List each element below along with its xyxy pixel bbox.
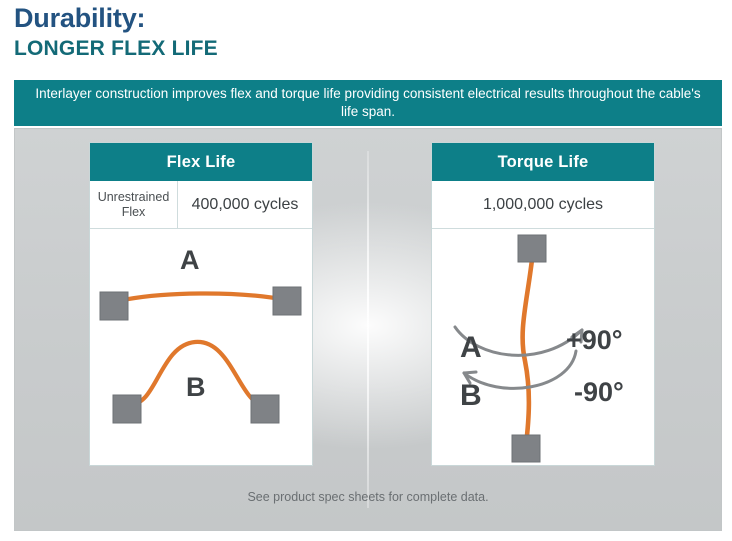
torque-angle-negative-label: -90° [574, 377, 624, 408]
flex-life-stat-label: Unrestrained Flex [90, 181, 178, 228]
torque-life-panel: Torque Life 1,000,000 cycles A B +90° -9… [431, 142, 655, 466]
footnote: See product spec sheets for complete dat… [15, 490, 721, 504]
flex-life-panel: Flex Life Unrestrained Flex 400,000 cycl… [89, 142, 313, 466]
flex-curve-b-label: B [186, 372, 206, 403]
flex-life-heading: Flex Life [90, 143, 312, 181]
page-title: Durability: [14, 2, 718, 34]
flex-curve-a-label: A [180, 245, 200, 276]
flex-curve-a-cable [114, 293, 286, 302]
flex-life-stat-value: 400,000 cycles [178, 181, 312, 228]
stage-divider [367, 151, 369, 508]
info-banner-text: Interlayer construction improves flex an… [34, 85, 702, 121]
flex-curve-b-block-left [113, 395, 141, 423]
flex-life-stat-row: Unrestrained Flex 400,000 cycles [90, 181, 312, 229]
torque-curve-a-label: A [460, 331, 482, 365]
torque-angle-positive-label: +90° [566, 325, 623, 356]
diagram-stage: Flex Life Unrestrained Flex 400,000 cycl… [14, 128, 722, 531]
torque-cable [523, 251, 533, 445]
flex-curve-b-block-right [251, 395, 279, 423]
torque-block-bottom [512, 435, 540, 462]
torque-life-heading: Torque Life [432, 143, 654, 181]
torque-curve-b-label: B [460, 379, 482, 413]
page-header: Durability: LONGER FLEX LIFE [14, 2, 718, 62]
torque-block-top [518, 235, 546, 262]
flex-life-figure: A B [90, 229, 312, 465]
torque-life-stat-value: 1,000,000 cycles [432, 181, 654, 228]
page-subtitle: LONGER FLEX LIFE [14, 34, 718, 62]
flex-curve-a-block-right [273, 287, 301, 315]
flex-curve-a-block-left [100, 292, 128, 320]
torque-life-stat-row: 1,000,000 cycles [432, 181, 654, 229]
torque-life-figure: A B +90° -90° [432, 229, 654, 465]
info-banner: Interlayer construction improves flex an… [14, 80, 722, 126]
